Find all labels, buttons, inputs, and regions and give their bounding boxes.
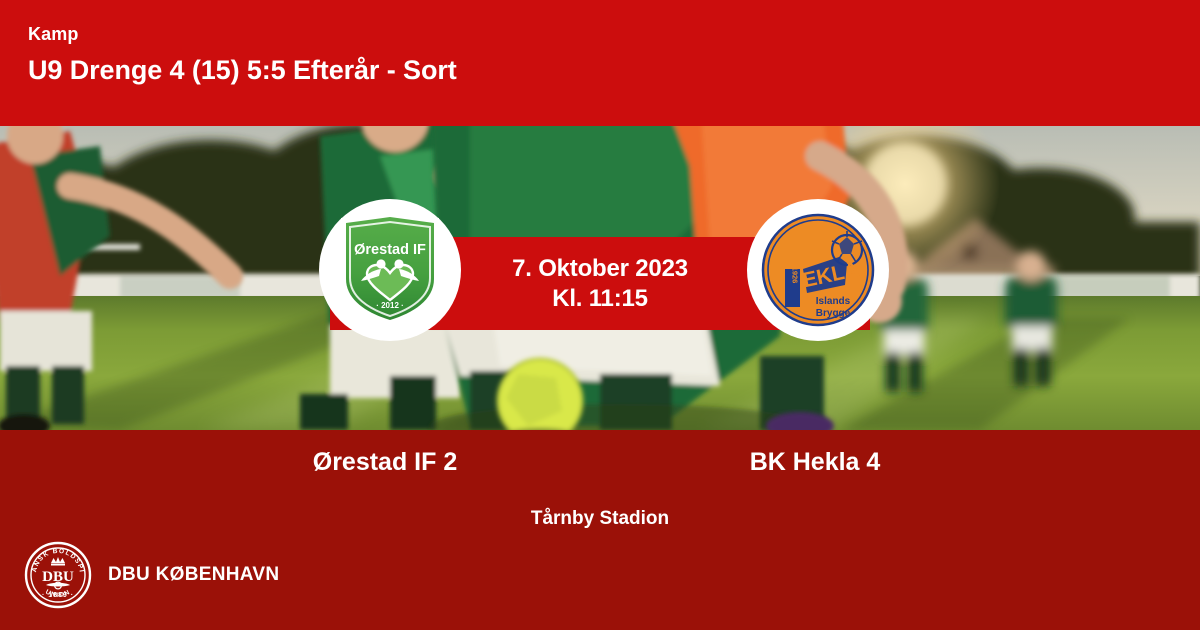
match-time: Kl. 11:15 [552, 284, 648, 314]
match-card: Kamp U9 Drenge 4 (15) 5:5 Efterår - Sort [0, 0, 1200, 630]
home-crest-year: · 2012 · [376, 301, 404, 310]
orange-circle-badge-icon: HEKLA 1926 Islands Brygge [761, 213, 875, 327]
dbu-logo-year: · 1889 · [42, 592, 74, 599]
away-crest-line2: Brygge [816, 308, 851, 319]
header-kicker: Kamp [28, 24, 1200, 44]
footer-branding: DANSK BOLDSPIL UNION DBU · 1889 · DBU KØ… [24, 541, 279, 609]
match-venue: Tårnby Stadion [0, 507, 1200, 531]
home-team-name: Ørestad IF 2 [170, 446, 600, 478]
green-shield-crest-icon: Ørestad IF · 2012 · [337, 212, 443, 328]
away-crest-line1: Islands [816, 296, 851, 307]
away-crest-year: 1926 [791, 267, 800, 284]
home-crest-name: Ørestad IF [354, 242, 426, 258]
card-header: Kamp U9 Drenge 4 (15) 5:5 Efterår - Sort [0, 0, 1200, 126]
team-names-row: Ørestad IF 2 BK Hekla 4 [0, 446, 1200, 478]
home-team-crest: Ørestad IF · 2012 · [319, 199, 461, 341]
dbu-seal-logo-icon: DANSK BOLDSPIL UNION DBU · 1889 · [24, 541, 92, 609]
page-title: U9 Drenge 4 (15) 5:5 Efterår - Sort [28, 53, 1200, 87]
away-team-crest: HEKLA 1926 Islands Brygge [747, 199, 889, 341]
match-date: 7. Oktober 2023 [512, 254, 688, 284]
away-team-name: BK Hekla 4 [600, 446, 1030, 478]
footer-org-name: DBU KØBENHAVN [108, 564, 279, 586]
